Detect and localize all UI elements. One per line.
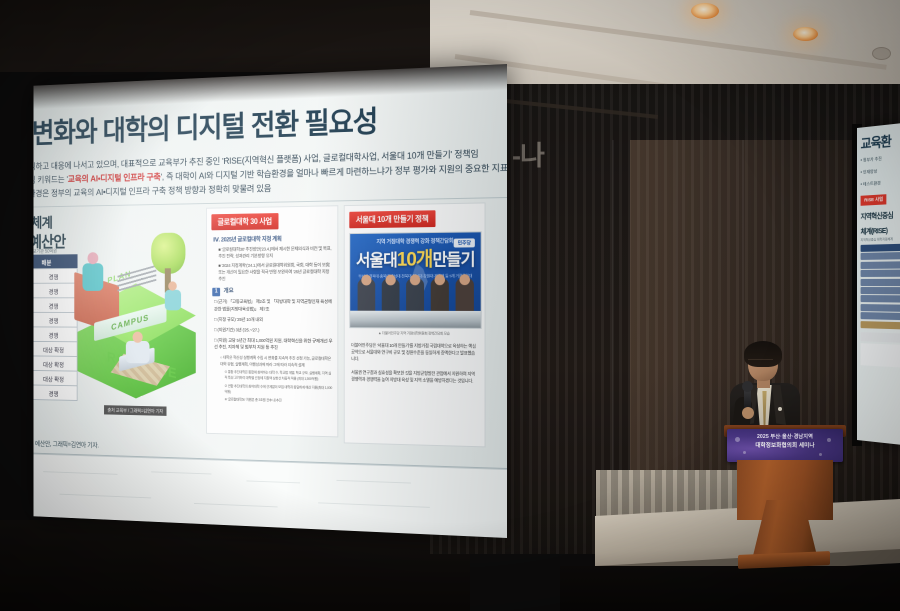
slide-title: 변화와 대학의 디지털 전환 필요성 xyxy=(34,92,496,151)
table-row xyxy=(861,287,900,294)
screen2-red-bar: RISE 사업 xyxy=(861,194,887,206)
table-row-highlight xyxy=(861,321,900,329)
ceiling-vent-icon xyxy=(872,47,891,60)
projection-screen-main: 변화와 대학의 디지털 전환 필요성 식하고 대응에 나서고 있으며, 대표적으… xyxy=(34,64,507,538)
screen2-bullet: • 인재양성 xyxy=(861,165,900,176)
ceiling-downlight-icon xyxy=(691,3,719,19)
photo-people-row xyxy=(350,276,480,312)
panel-right-header: 서울대 10개 만들기 정책 xyxy=(349,210,435,228)
panel-global-university: 글로컬대학 30 사업 Ⅳ. 2025년 글로컬대학 지정 계획 ■ '글로컬대… xyxy=(206,205,338,437)
table-row xyxy=(861,312,900,320)
table-row xyxy=(861,278,900,285)
podium-banner: 2025 부산·울산·경남지역 대학정보화협의회 세미나 xyxy=(727,429,843,462)
photo-caption: ▲ 더불어민주당 지역 거점대학위원회 정책간담회 모습 xyxy=(349,331,479,337)
photo-desk xyxy=(350,311,480,328)
table-row xyxy=(861,244,900,252)
screen2-footer-block xyxy=(861,332,900,343)
table-row xyxy=(861,270,900,277)
panel-left-item: □ (지정 규모) '25년 10개 내외 xyxy=(214,317,333,325)
projection-screen-secondary: 교육환 • 정부가 추진 • 인재양성 • 테스트환경 RISE 사업 지역혁신… xyxy=(857,123,900,446)
podium-banner-line2: 대학정보화협의회 세미나 xyxy=(727,442,843,451)
screen2-footer-block xyxy=(861,343,900,367)
panel-snu-ten: 서울대 10개 만들기 정책 지역 거점대학 경쟁력 강화 정책간담회 민주당 … xyxy=(344,202,486,447)
screen2-subnote: 지역혁신중심 대학지원체계 xyxy=(861,236,900,242)
back-wall-upper xyxy=(0,0,436,72)
highlight-keyword: 교육의 AI•디지털 인프라 구축 xyxy=(68,172,161,184)
curtain-banner-text: -나 xyxy=(512,134,544,173)
screen2-table xyxy=(861,244,900,329)
iso-person xyxy=(165,290,181,311)
press-conference-photo: 지역 거점대학 경쟁력 강화 정책간담회 민주당 서울대10개만들기 부산대·경… xyxy=(349,231,481,329)
screen2-heading-1: 지역혁신중심 xyxy=(861,210,900,222)
panel-left-item: □ (지원) 교당 5년간 최대 1,000억원 지원, 대학혁신을 위한 규제… xyxy=(214,337,333,353)
table-row xyxy=(861,252,900,260)
speaker-badge xyxy=(778,407,782,411)
panel-left-section: 1개요 xyxy=(212,286,333,297)
panel-right-paragraph: 더불어민주당은 '서울대 10개 만들기'를 지방거점 국립대학으로 육성하는 … xyxy=(351,342,478,365)
panel-left-item: □ (근거) 「고등교육법」 제2조 및 「지방대학 및 지역균형인재 육성에 … xyxy=(214,299,333,314)
panel-left-note: ② 연합 추진대학의 참여대학 수에 관계없이 모집 대학과 동일하게 예산 지… xyxy=(224,384,332,397)
panel-left-bullet: ■ '2024 지정계획'('24.1.)에서 글로컬대학위원회, 국회, 대학… xyxy=(218,261,332,282)
ceiling-downlight-icon xyxy=(793,27,818,41)
panel-left-header: 글로컬대학 30 사업 xyxy=(211,213,278,230)
screen2-bullet: • 정부가 추진 xyxy=(861,153,900,165)
speaker-hand xyxy=(742,407,754,419)
infographic-source: 출처 교육부 / 그래픽=김연아 기자 xyxy=(104,405,166,416)
glasses-icon xyxy=(748,359,773,365)
photo-party-label: 민주당 xyxy=(454,238,475,247)
slide-content: 변화와 대학의 디지털 전환 필요성 식하고 대응에 나서고 있으며, 대표적으… xyxy=(34,84,507,514)
infographic-rise: 립체계 년 예산안 25, 내년 보기관 50억원 배분 경쟁 경쟁 경쟁 경쟁… xyxy=(34,208,201,434)
screen2-title: 교육환 xyxy=(861,129,900,152)
panel-left-bullet: ■ '글로컬대학30' 추진방안('23.4.)에서 제시한 문제의식과 비전 … xyxy=(218,245,332,260)
photo-banner-main: 서울대10개만들기 xyxy=(350,250,480,270)
panel-left-note: ① 통합 추진대학은 통합에 참여하는 대학 수, 학교법 계열, 학교 규모,… xyxy=(224,370,332,382)
stage-front-dark xyxy=(560,566,900,611)
panel-right-paragraph: 서울권 연구결과 실효성을 확보한 것을 지방균형발전 관점에서 지원하여 지역… xyxy=(351,369,478,385)
iso-person-head xyxy=(87,252,98,264)
slide-body: 식하고 대응에 나서고 있으며, 대표적으로 교육부가 추진 중인 'RISE(… xyxy=(34,146,496,201)
conference-hall-photo: -나 변화와 대학의 디지털 전환 필요성 식하고 대응에 나서고 있으며, 대… xyxy=(0,0,900,611)
panel-left-note: ○ 대학은 혁신성 실행계획 수립 시 변화를 지속적 추진 선정 가능, 글로… xyxy=(220,355,333,369)
isometric-illustration: RISE RISE PLAN CAMPUS xyxy=(71,227,200,415)
iso-person-head xyxy=(133,332,143,343)
iso-person xyxy=(126,341,150,364)
table-row xyxy=(861,304,900,312)
panel-left-item: □ (지원기간) 3년 ('25.~'27.) xyxy=(214,327,333,335)
iso-person-head xyxy=(168,281,177,290)
podium-banner-line1: 2025 부산·울산·경남지역 xyxy=(727,433,843,442)
section-title: 개요 xyxy=(224,288,234,295)
screen2-bullet: • 테스트환경 xyxy=(861,178,900,189)
table-row xyxy=(861,261,900,269)
panel-left-subheader: Ⅳ. 2025년 글로컬대학 지정 계획 xyxy=(213,233,333,243)
section-number: 1 xyxy=(212,288,220,297)
table-row xyxy=(861,295,900,303)
panel-left-note: ※ '글로컬대학30' 지원은 총 3조원 전후 내 추진 xyxy=(224,398,332,406)
iso-person xyxy=(83,263,104,291)
back-wall-lower xyxy=(0,520,470,611)
